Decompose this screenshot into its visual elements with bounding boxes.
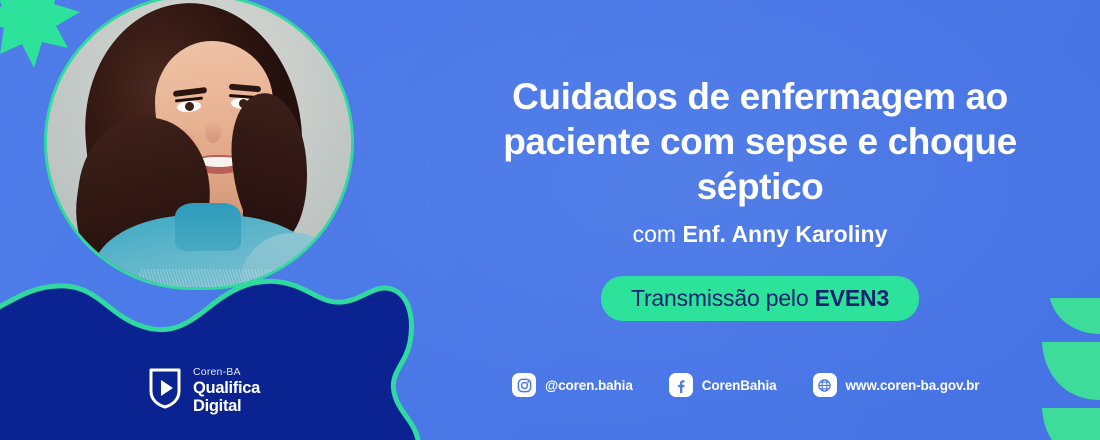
social-link-facebook[interactable]: CorenBahia xyxy=(669,373,777,397)
instagram-icon xyxy=(512,373,536,397)
social-link-instagram[interactable]: @coren.bahia xyxy=(512,373,633,397)
play-shield-icon xyxy=(148,367,182,414)
portrait-photo xyxy=(47,0,351,287)
event-title: Cuidados de enfermagem ao paciente com s… xyxy=(440,74,1080,209)
portrait-frame xyxy=(44,0,354,290)
logo-line-1: Qualifica xyxy=(193,379,260,397)
logo-line-2: Digital xyxy=(193,397,260,415)
cta-container: Transmissão pelo EVEN3 xyxy=(440,276,1080,321)
globe-icon xyxy=(813,373,837,397)
speaker-name: Enf. Anny Karoliny xyxy=(682,221,887,247)
facebook-icon xyxy=(669,373,693,397)
qualifica-digital-logo: Coren-BA Qualifica Digital xyxy=(148,366,260,415)
social-link-website[interactable]: www.coren-ba.gov.br xyxy=(813,373,980,397)
logo-kicker: Coren-BA xyxy=(193,366,260,379)
event-banner: Coren-BA Qualifica Digital Cuidados de e… xyxy=(0,0,1100,440)
speaker-prefix: com xyxy=(633,221,683,247)
social-label-website: www.coren-ba.gov.br xyxy=(846,378,980,393)
speaker-line: com Enf. Anny Karoliny xyxy=(440,219,1080,249)
social-links-row: @coren.bahia CorenBahia www.coren-ba xyxy=(512,373,979,397)
speaker-portrait xyxy=(44,0,354,290)
social-label-facebook: CorenBahia xyxy=(702,378,777,393)
broadcast-cta-button[interactable]: Transmissão pelo EVEN3 xyxy=(601,276,919,321)
cta-prefix: Transmissão pelo xyxy=(631,285,815,311)
cta-brand: EVEN3 xyxy=(815,285,889,311)
social-label-instagram: @coren.bahia xyxy=(545,378,633,393)
